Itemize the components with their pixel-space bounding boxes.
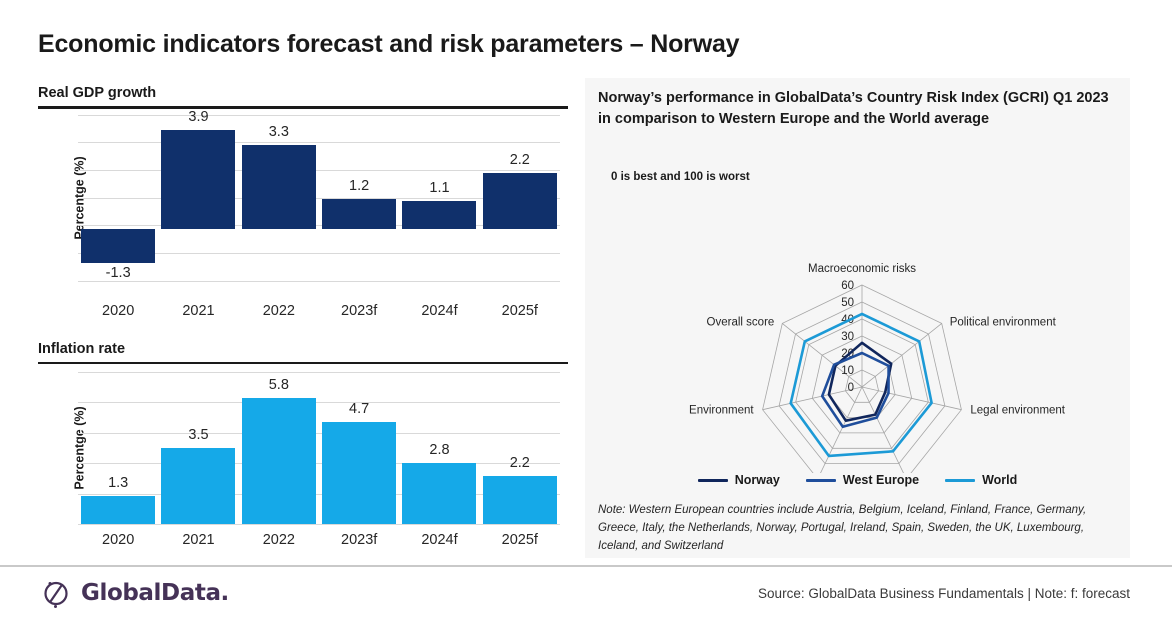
legend-swatch <box>945 479 975 482</box>
panel-note: Note: Western European countries include… <box>598 502 1118 555</box>
bar-value-label: 2.2 <box>510 152 530 168</box>
legend-item[interactable]: Norway <box>698 473 780 487</box>
left-column: Real GDP growth Percentge (%) -1.33.93.3… <box>38 85 568 548</box>
legend-item[interactable]: World <box>945 473 1017 487</box>
legend-label: World <box>982 473 1017 487</box>
bar-value-label: 4.7 <box>349 401 369 417</box>
bar-group: 4.7 <box>319 372 399 524</box>
radar-legend: NorwayWest EuropeWorld <box>585 473 1130 487</box>
bar-value-label: 1.3 <box>108 475 128 491</box>
bar-value-label: 3.3 <box>269 124 289 140</box>
gdp-section-heading: Real GDP growth <box>38 85 568 106</box>
x-axis-tick: 2022 <box>239 303 319 319</box>
radar-svg: 0102030405060Macroeconomic risksPolitica… <box>585 173 1130 473</box>
radar-axis-label: Macroeconomic risks <box>808 263 916 275</box>
bar-group: 3.3 <box>239 115 319 281</box>
radar-tick-label: 30 <box>841 331 854 343</box>
legend-swatch <box>806 479 836 482</box>
bar <box>322 422 396 524</box>
bar-group: 1.3 <box>78 372 158 524</box>
bar-group: 2.8 <box>399 372 479 524</box>
bar-value-label: 1.1 <box>429 180 449 196</box>
gdp-plot-area: -1.33.93.31.21.12.2 <box>78 115 560 281</box>
inflation-section-rule <box>38 362 568 365</box>
x-axis-tick: 2025f <box>480 303 560 319</box>
x-axis-tick: 2021 <box>158 532 238 548</box>
page-title: Economic indicators forecast and risk pa… <box>38 30 739 59</box>
bar <box>242 145 316 229</box>
legend-label: Norway <box>735 473 780 487</box>
globaldata-logo-icon <box>40 577 72 609</box>
gdp-section-rule <box>38 106 568 109</box>
radar-spoke <box>862 387 961 410</box>
radar-tick-label: 0 <box>848 382 854 394</box>
bar-group: 2.2 <box>480 372 560 524</box>
x-axis-tick: 2024f <box>399 532 479 548</box>
bar-group: 1.1 <box>399 115 479 281</box>
bar <box>483 173 557 229</box>
source-note: Source: GlobalData Business Fundamentals… <box>758 586 1130 601</box>
bar-value-label: 2.8 <box>429 442 449 458</box>
inflation-x-axis: 2020202120222023f2024f2025f <box>78 532 560 548</box>
bar-value-label: 1.2 <box>349 178 369 194</box>
inflation-chart: Percentge (%) 1.33.55.84.72.82.2 <box>38 372 568 524</box>
x-axis-tick: 2024f <box>399 303 479 319</box>
bar <box>81 229 155 262</box>
gridline <box>78 524 560 525</box>
bar-group: 1.2 <box>319 115 399 281</box>
inflation-bar-series: 1.33.55.84.72.82.2 <box>78 372 560 524</box>
footer-divider <box>0 565 1172 567</box>
radar-axis-label: Environment <box>689 405 754 417</box>
bar-value-label: 2.2 <box>510 455 530 471</box>
x-axis-tick: 2023f <box>319 532 399 548</box>
bar-group: -1.3 <box>78 115 158 281</box>
gdp-chart: Percentge (%) -1.33.93.31.21.12.2 <box>38 115 568 281</box>
radar-tick-label: 50 <box>841 297 854 309</box>
bar <box>161 130 235 230</box>
gdp-x-axis: 2020202120222023f2024f2025f <box>78 303 560 319</box>
radar-tick-label: 60 <box>841 280 854 292</box>
legend-item[interactable]: West Europe <box>806 473 919 487</box>
gdp-section: Real GDP growth Percentge (%) -1.33.93.3… <box>38 85 568 319</box>
x-axis-tick: 2020 <box>78 303 158 319</box>
inflation-section: Inflation rate Percentge (%) 1.33.55.84.… <box>38 341 568 549</box>
bar-value-label: 3.9 <box>188 109 208 125</box>
bar-group: 3.5 <box>158 372 238 524</box>
bar-value-label: 3.5 <box>188 427 208 443</box>
gridline <box>78 281 560 282</box>
x-axis-tick: 2020 <box>78 532 158 548</box>
legend-swatch <box>698 479 728 482</box>
slide: Economic indicators forecast and risk pa… <box>0 0 1172 628</box>
radar-axis-label: Legal environment <box>970 405 1065 417</box>
radar-series-world <box>791 314 932 456</box>
x-axis-tick: 2021 <box>158 303 238 319</box>
globaldata-logo: GlobalData. <box>40 577 229 609</box>
radar-axis-label: Political environment <box>950 316 1057 328</box>
globaldata-logo-text: GlobalData. <box>81 580 229 606</box>
inflation-plot-area: 1.33.55.84.72.82.2 <box>78 372 560 524</box>
radar-tick-label: 10 <box>841 365 854 377</box>
bar-group: 2.2 <box>480 115 560 281</box>
panel-title: Norway’s performance in GlobalData’s Cou… <box>598 88 1118 130</box>
inflation-section-heading: Inflation rate <box>38 341 568 362</box>
bar-group: 5.8 <box>239 372 319 524</box>
risk-index-panel: Norway’s performance in GlobalData’s Cou… <box>585 78 1130 558</box>
x-axis-tick: 2025f <box>480 532 560 548</box>
bar <box>402 201 476 229</box>
x-axis-tick: 2022 <box>239 532 319 548</box>
bar <box>402 463 476 524</box>
bar-group: 3.9 <box>158 115 238 281</box>
bar <box>483 476 557 524</box>
radar-axis-label: Overall score <box>707 316 775 328</box>
gdp-bar-series: -1.33.93.31.21.12.2 <box>78 115 560 281</box>
radar-chart: 0102030405060Macroeconomic risksPolitica… <box>585 173 1130 473</box>
bar <box>322 199 396 230</box>
bar <box>81 496 155 524</box>
legend-label: West Europe <box>843 473 919 487</box>
bar-value-label: 5.8 <box>269 377 289 393</box>
bar-value-label: -1.3 <box>106 265 131 281</box>
bar <box>242 398 316 524</box>
x-axis-tick: 2023f <box>319 303 399 319</box>
bar <box>161 448 235 524</box>
